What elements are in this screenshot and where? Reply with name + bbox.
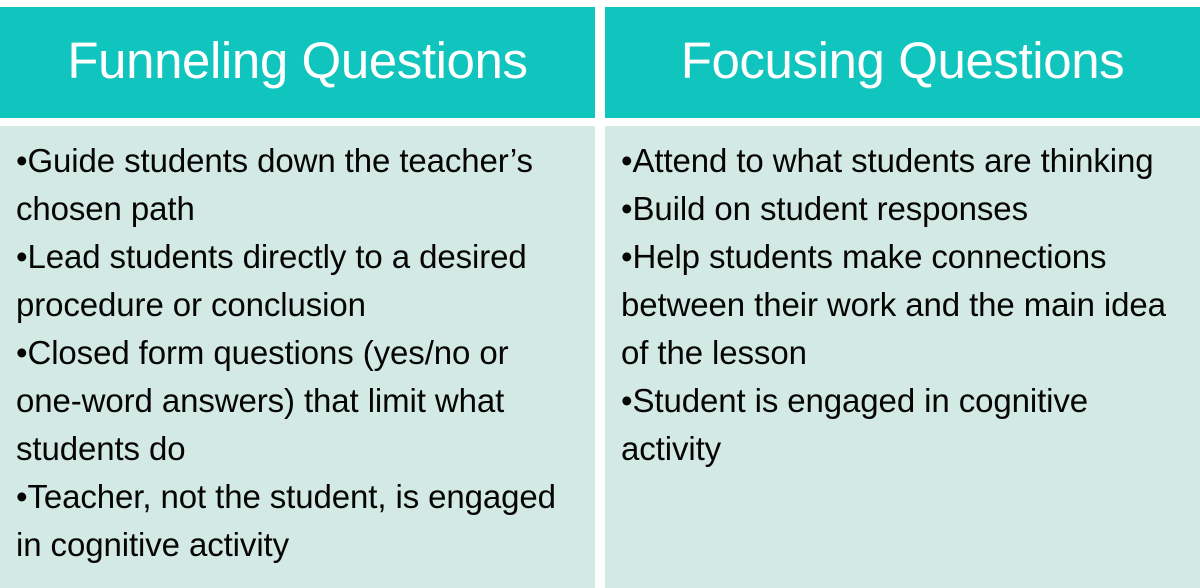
list-item: •Build on student responses: [621, 185, 1186, 233]
list-item: •Lead students directly to a desired pro…: [16, 233, 581, 329]
column-body-funneling: •Guide students down the teacher’s chose…: [0, 126, 595, 588]
list-item: •Help students make connections between …: [621, 233, 1186, 377]
bullet-icon: •: [621, 142, 632, 179]
list-item-text: Student is engaged in cognitive activity: [621, 382, 1088, 467]
bullet-icon: •: [621, 190, 632, 227]
list-item: •Teacher, not the student, is engaged in…: [16, 473, 581, 569]
column-header-funneling-title: Funneling Questions: [67, 35, 527, 90]
bullet-icon: •: [621, 238, 632, 275]
list-item: •Attend to what students are thinking: [621, 137, 1186, 185]
column-header-focusing-title: Focusing Questions: [681, 35, 1125, 90]
column-divider: [595, 126, 605, 588]
bullet-icon: •: [16, 478, 27, 515]
table-header-row: Funneling Questions Focusing Questions: [0, 0, 1200, 126]
list-item-text: Build on student responses: [632, 190, 1028, 227]
column-divider: [595, 7, 605, 126]
column-header-focusing: Focusing Questions: [605, 7, 1200, 118]
comparison-table: Funneling Questions Focusing Questions •…: [0, 0, 1200, 588]
bullet-icon: •: [16, 238, 27, 275]
list-item: •Closed form questions (yes/no or one-wo…: [16, 329, 581, 473]
list-item-text: Help students make connections between t…: [621, 238, 1166, 371]
list-item-text: Closed form questions (yes/no or one-wor…: [16, 334, 509, 467]
focusing-bullet-list: •Attend to what students are thinking •B…: [621, 137, 1186, 473]
bullet-icon: •: [621, 382, 632, 419]
list-item-text: Teacher, not the student, is engaged in …: [16, 478, 556, 563]
bullet-icon: •: [16, 334, 27, 371]
bullet-icon: •: [16, 142, 27, 179]
list-item-text: Attend to what students are thinking: [632, 142, 1153, 179]
column-body-focusing: •Attend to what students are thinking •B…: [605, 126, 1200, 588]
column-header-funneling: Funneling Questions: [0, 7, 595, 118]
table-body-row: •Guide students down the teacher’s chose…: [0, 126, 1200, 588]
list-item-text: Lead students directly to a desired proc…: [16, 238, 527, 323]
list-item: •Student is engaged in cognitive activit…: [621, 377, 1186, 473]
list-item: •Guide students down the teacher’s chose…: [16, 137, 581, 233]
funneling-bullet-list: •Guide students down the teacher’s chose…: [16, 137, 581, 569]
list-item-text: Guide students down the teacher’s chosen…: [16, 142, 533, 227]
